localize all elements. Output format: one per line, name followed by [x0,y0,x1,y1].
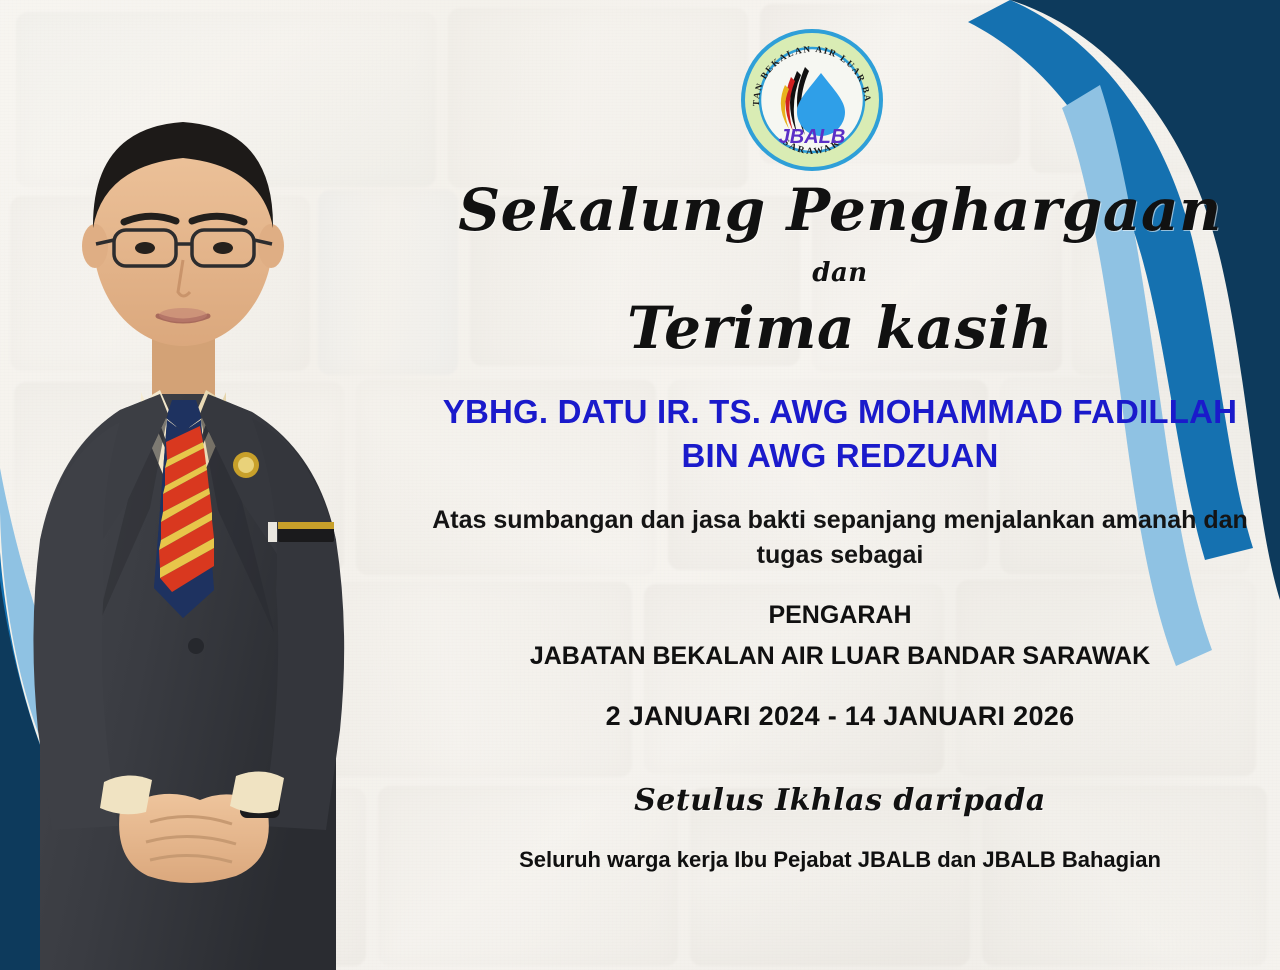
headline-conjunction: dan [400,258,1280,288]
role-organisation: JABATAN BEKALAN AIR LUAR BANDAR SARAWAK [410,636,1270,677]
service-period: 2 JANUARI 2024 - 14 JANUARI 2026 [400,699,1280,733]
poster-canvas: JABATAN BEKALAN AIR LUAR BANDAR SARAWAK … [0,0,1280,970]
headline-terima-kasih: Terima kasih [400,296,1280,360]
appreciation-body-text: Atas sumbangan dan jasa bakti sepanjang … [430,503,1250,573]
headline-sekalung-penghargaan: Sekalung Penghargaan [400,178,1280,242]
closing-script: Setulus Ikhlas daripada [400,782,1280,820]
poster-content: Sekalung Penghargaan dan Terima kasih YB… [400,0,1280,970]
role-block: PENGARAH JABATAN BEKALAN AIR LUAR BANDAR… [410,595,1270,677]
honoree-name: YBHG. DATU IR. TS. AWG MOHAMMAD FADILLAH… [410,390,1270,478]
role-title: PENGARAH [410,595,1270,636]
sender-line: Seluruh warga kerja Ibu Pejabat JBALB da… [400,845,1280,875]
